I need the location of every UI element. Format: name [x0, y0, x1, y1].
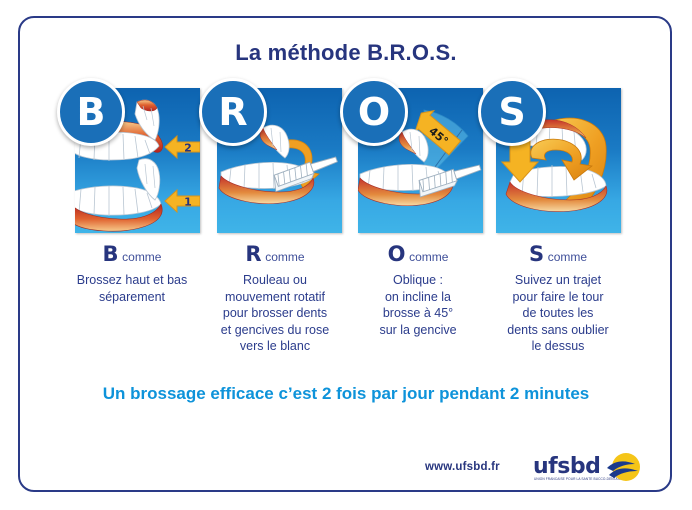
page-title: La méthode B.R.O.S.: [0, 40, 692, 66]
arrow-step-2-label: 2: [184, 142, 192, 155]
caption-o-comme: comme: [409, 250, 448, 264]
caption-s: S comme Suivez un trajet pour faire le t…: [483, 244, 633, 355]
arrow-step-1-label: 1: [184, 196, 192, 209]
key-message-banner: Un brossage efficace c’est 2 fois par jo…: [0, 384, 692, 404]
caption-b-text: Brossez haut et bas séparement: [57, 272, 207, 305]
badge-s: S: [478, 78, 546, 146]
badge-b: B: [57, 78, 125, 146]
caption-r-letter: R: [245, 242, 261, 266]
caption-s-comme: comme: [548, 250, 587, 264]
panel-o[interactable]: 45°: [358, 88, 483, 233]
caption-b-comme: comme: [122, 250, 161, 264]
poster-root: La méthode B.R.O.S.: [0, 0, 692, 510]
caption-o: O comme Oblique : on incline la brosse à…: [343, 244, 493, 338]
caption-s-head: S comme: [483, 244, 633, 265]
arrow-step-2: 2: [163, 132, 200, 162]
caption-o-head: O comme: [343, 244, 493, 265]
caption-r-comme: comme: [265, 250, 304, 264]
badge-r: R: [199, 78, 267, 146]
footer: www.ufsbd.fr ufsbd UNION FRANCAISE POUR …: [425, 452, 640, 492]
arrow-step-1: 1: [163, 186, 200, 216]
caption-r-text: Rouleau ou mouvement rotatif pour brosse…: [200, 272, 350, 355]
caption-r-head: R comme: [200, 244, 350, 265]
ufsbd-logo-mark-icon: [605, 452, 643, 484]
caption-s-letter: S: [529, 242, 544, 266]
panel-r[interactable]: R: [217, 88, 342, 233]
panel-b[interactable]: 2 1 B: [75, 88, 200, 233]
caption-o-letter: O: [388, 242, 406, 266]
caption-r: R comme Rouleau ou mouvement rotatif pou…: [200, 244, 350, 355]
website-url[interactable]: www.ufsbd.fr: [425, 461, 500, 473]
ufsbd-logo[interactable]: ufsbd UNION FRANCAISE POUR LA SANTE BUCC…: [533, 452, 643, 488]
caption-b-letter: B: [103, 242, 119, 266]
caption-b: B comme Brossez haut et bas séparement: [57, 244, 207, 305]
caption-s-text: Suivez un trajet pour faire le tour de t…: [483, 272, 633, 355]
panel-s[interactable]: S: [496, 88, 621, 233]
caption-b-head: B comme: [57, 244, 207, 265]
caption-o-text: Oblique : on incline la brosse à 45° sur…: [343, 272, 493, 338]
badge-o: O: [340, 78, 408, 146]
panels-row: 2 1 B: [75, 88, 621, 236]
captions-row: B comme Brossez haut et bas séparement R…: [60, 244, 640, 364]
